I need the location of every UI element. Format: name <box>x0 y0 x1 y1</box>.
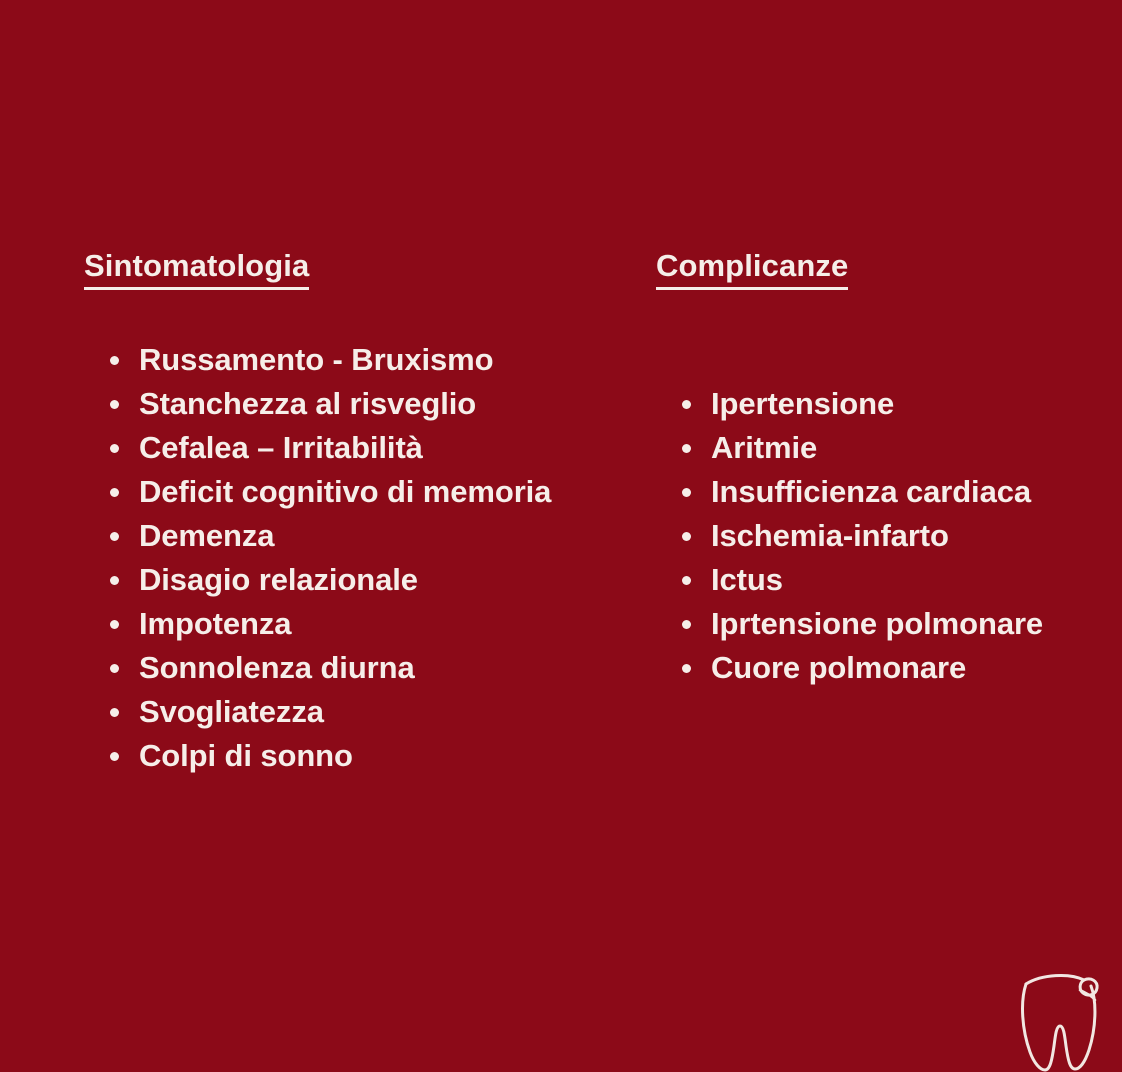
list-item-label: Svogliatezza <box>139 694 324 729</box>
list-item-label: Ischemia-infarto <box>711 518 949 553</box>
heading-complicanze: Complicanze <box>656 250 848 290</box>
list-item: Sonnolenza diurna <box>84 646 551 690</box>
bullet-icon <box>110 356 119 365</box>
bullet-icon <box>682 576 691 585</box>
list-item-label: Stanchezza al risveglio <box>139 386 476 421</box>
bullet-icon <box>110 708 119 717</box>
list-item-label: Sonnolenza diurna <box>139 650 415 685</box>
bullet-icon <box>682 444 691 453</box>
bullet-icon <box>110 532 119 541</box>
list-item: Ischemia-infarto <box>656 514 1043 558</box>
list-item: Demenza <box>84 514 551 558</box>
list-item: Cuore polmonare <box>656 646 1043 690</box>
list-item: Deficit cognitivo di memoria <box>84 470 551 514</box>
slide-canvas: Sintomatologia Russamento - Bruxismo Sta… <box>0 0 1122 1060</box>
list-item: Aritmie <box>656 426 1043 470</box>
bullet-icon <box>682 620 691 629</box>
list-item: Impotenza <box>84 602 551 646</box>
list-item-label: Iprtensione polmonare <box>711 606 1043 641</box>
list-item-label: Cuore polmonare <box>711 650 966 685</box>
list-item: Svogliatezza <box>84 690 551 734</box>
bullet-icon <box>110 752 119 761</box>
list-item-label: Russamento - Bruxismo <box>139 342 493 377</box>
list-item-label: Ictus <box>711 562 783 597</box>
list-item: Iprtensione polmonare <box>656 602 1043 646</box>
bullet-list-complicanze: Ipertensione Aritmie Insufficienza cardi… <box>656 382 1043 690</box>
list-item-label: Deficit cognitivo di memoria <box>139 474 551 509</box>
list-item: Insufficienza cardiaca <box>656 470 1043 514</box>
list-item-label: Cefalea – Irritabilità <box>139 430 423 465</box>
tooth-logo <box>1012 968 1108 1072</box>
list-item: Cefalea – Irritabilità <box>84 426 551 470</box>
bullet-icon <box>110 664 119 673</box>
bullet-icon <box>682 532 691 541</box>
list-item: Stanchezza al risveglio <box>84 382 551 426</box>
list-item: Colpi di sonno <box>84 734 551 778</box>
list-item: Russamento - Bruxismo <box>84 338 551 382</box>
list-item-label: Aritmie <box>711 430 817 465</box>
bullet-icon <box>110 576 119 585</box>
list-item-label: Ipertensione <box>711 386 894 421</box>
bullet-icon <box>110 444 119 453</box>
bullet-icon <box>110 620 119 629</box>
bullet-icon <box>682 664 691 673</box>
list-item-label: Insufficienza cardiaca <box>711 474 1031 509</box>
list-item-label: Disagio relazionale <box>139 562 418 597</box>
list-item: Ictus <box>656 558 1043 602</box>
list-item-label: Colpi di sonno <box>139 738 353 773</box>
bullet-icon <box>110 488 119 497</box>
bullet-icon <box>682 488 691 497</box>
bullet-list-sintomatologia: Russamento - Bruxismo Stanchezza al risv… <box>84 338 551 778</box>
heading-sintomatologia: Sintomatologia <box>84 250 309 290</box>
list-item-label: Impotenza <box>139 606 291 641</box>
list-item: Ipertensione <box>656 382 1043 426</box>
bullet-icon <box>682 400 691 409</box>
list-item-label: Demenza <box>139 518 274 553</box>
list-item: Disagio relazionale <box>84 558 551 602</box>
bullet-icon <box>110 400 119 409</box>
